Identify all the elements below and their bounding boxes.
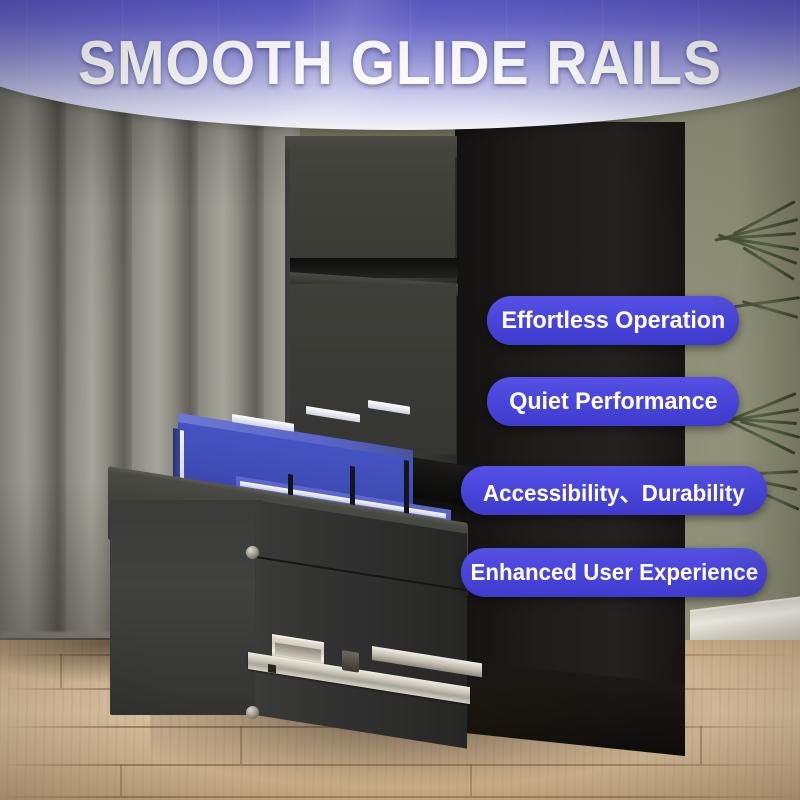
cabinet-upper-drawer [290, 145, 455, 260]
drawer-side-face [110, 500, 262, 715]
floor-plank-edge [120, 764, 122, 796]
cabinet-middle-drawer [290, 284, 456, 454]
feature-pill-effortless-operation[interactable]: Effortless Operation [487, 296, 739, 345]
plant-frond [732, 200, 795, 236]
feature-pill-label: Enhanced User Experience [470, 559, 758, 586]
drawer-rivet [246, 706, 259, 719]
feature-pill-label: Accessibility、Durability [483, 474, 745, 508]
drawer-rivet [246, 546, 259, 559]
floor-plank-seam [0, 796, 800, 798]
feature-pill-accessibility-durability[interactable]: Accessibility、Durability [461, 466, 767, 515]
feature-pill-quiet-performance[interactable]: Quiet Performance [487, 377, 739, 426]
feature-pill-enhanced-user-experience[interactable]: Enhanced User Experience [461, 548, 767, 597]
product-marketing-image: SMOOTH GLIDE RAILS Effortless Operation … [0, 0, 800, 800]
feature-pill-label: Quiet Performance [509, 388, 717, 416]
page-title: SMOOTH GLIDE RAILS [32, 28, 768, 99]
feature-pill-label: Effortless Operation [501, 307, 725, 335]
slide-rail-screw [268, 664, 276, 673]
folder-divider [404, 460, 409, 515]
plant-frond [718, 233, 798, 265]
drawer-front-face [255, 500, 467, 749]
slide-rail-clip [342, 650, 359, 673]
